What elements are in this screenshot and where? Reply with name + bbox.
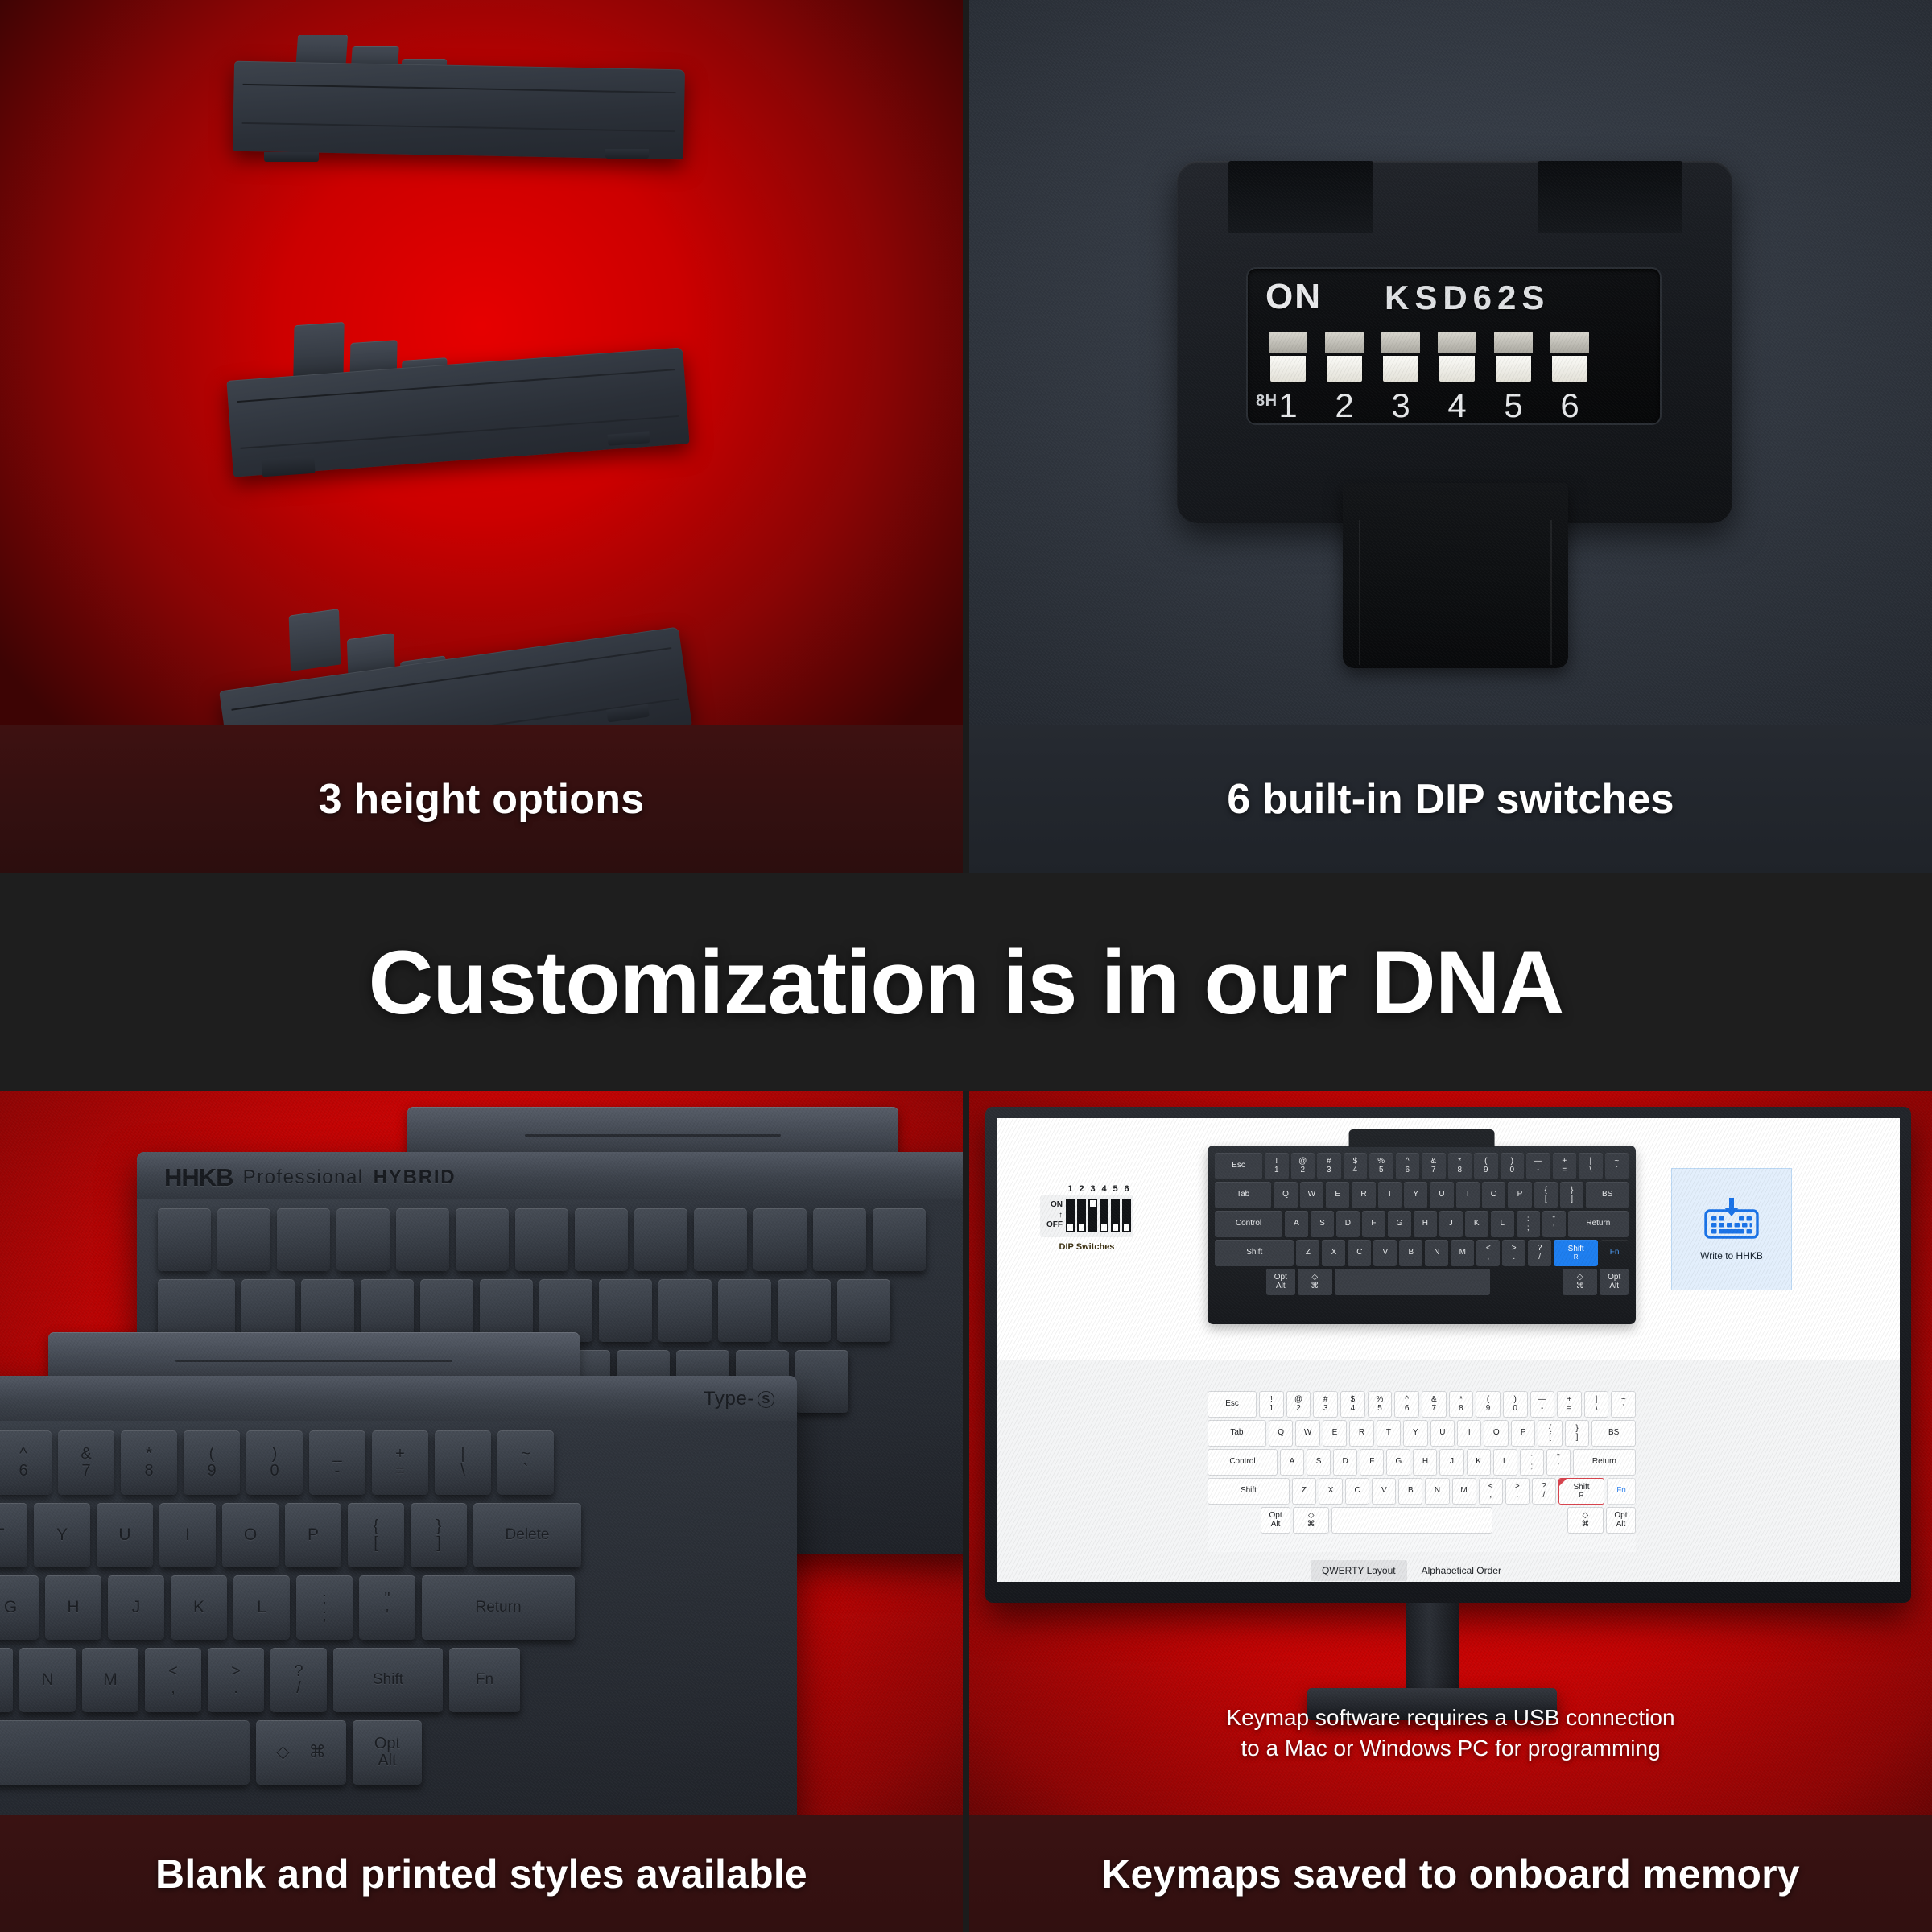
vk-key-4[interactable]: $4 xyxy=(1340,1391,1365,1418)
vk-key-lower: BS xyxy=(1602,1191,1612,1199)
vk-key-y[interactable]: Y xyxy=(1403,1420,1427,1447)
vk-key-lower: 6 xyxy=(1405,1405,1410,1414)
vk-key-c[interactable]: C xyxy=(1345,1478,1369,1505)
vk-key-lower: Z xyxy=(1302,1487,1307,1496)
vk-key-blank[interactable]: ◇⌘ xyxy=(1567,1507,1604,1534)
vk-key-lower: G xyxy=(1396,1220,1402,1228)
key-bracket-left: { [ xyxy=(348,1503,404,1567)
vk-key-upper: Opt xyxy=(1614,1512,1627,1521)
vk-key-j[interactable]: J xyxy=(1439,1449,1463,1476)
vk-key-8[interactable]: *8 xyxy=(1449,1391,1474,1418)
vk-key-lower: C xyxy=(1356,1249,1362,1257)
vk-key-6[interactable]: ^6 xyxy=(1394,1391,1419,1418)
vk-key-r[interactable]: ShiftR xyxy=(1554,1240,1598,1266)
vk-key-d[interactable]: D xyxy=(1333,1449,1357,1476)
key-g: G xyxy=(0,1575,39,1640)
vk-key-upper: + xyxy=(1567,1396,1572,1405)
vk-key-t[interactable]: T xyxy=(1377,1420,1401,1447)
vk-key-o[interactable]: O xyxy=(1482,1182,1505,1208)
key-blank xyxy=(795,1350,848,1413)
vk-key-lower: Control xyxy=(1236,1220,1261,1228)
vk-key-lower: U xyxy=(1439,1429,1445,1438)
vk-key-lower: C xyxy=(1355,1487,1360,1496)
key-p: P xyxy=(285,1503,341,1567)
vk-key-lower: X xyxy=(1328,1487,1334,1496)
caption-band-height-options: 3 height options xyxy=(0,724,963,873)
vk-key-w[interactable]: W xyxy=(1300,1182,1323,1208)
vk-key-lower: O xyxy=(1493,1429,1500,1438)
printed-key-row-asdf: S D F G H J K xyxy=(0,1575,575,1640)
vk-row-qwerty: TabQWERTYUIOP{[}]BS xyxy=(1207,1420,1636,1447)
key-9: ( 9 xyxy=(184,1430,240,1495)
key-blank xyxy=(158,1208,211,1271)
vk-key-lower: - xyxy=(1541,1405,1543,1414)
virtual-keyboard-light[interactable]: Esc!1@2#3$4%5^6&7*8(9)0—-+=|\~`TabQWERTY… xyxy=(1207,1391,1636,1552)
vk-key-blank[interactable]: |\ xyxy=(1579,1153,1603,1179)
vk-key-v[interactable]: V xyxy=(1373,1240,1397,1266)
vk-key-upper: @ xyxy=(1294,1396,1302,1405)
dip-cover-tail xyxy=(1343,483,1568,668)
vk-key-lower: I xyxy=(1468,1429,1471,1438)
key-k: K xyxy=(171,1575,227,1640)
vk-key-upper: — xyxy=(1534,1158,1542,1166)
vk-key-lower: \ xyxy=(1596,1405,1598,1414)
key-blank xyxy=(515,1208,568,1271)
vk-key-9[interactable]: (9 xyxy=(1476,1391,1501,1418)
vk-key-5[interactable]: %5 xyxy=(1368,1391,1393,1418)
vk-key-lower: / xyxy=(1538,1253,1541,1262)
vk-key-upper: { xyxy=(1545,1187,1547,1195)
vk-key-p[interactable]: P xyxy=(1511,1420,1535,1447)
vk-key-n[interactable]: N xyxy=(1425,1240,1448,1266)
vk-key-blank[interactable]: {[ xyxy=(1538,1420,1562,1447)
vk-key-lower: L xyxy=(1500,1220,1505,1228)
vk-key-upper: % xyxy=(1377,1158,1385,1166)
vk-key-4[interactable]: $4 xyxy=(1344,1153,1368,1179)
vk-key-lower: . xyxy=(1513,1253,1515,1262)
printed-key-row-zxcv: X C V B N M < , xyxy=(0,1648,520,1712)
vk-key-p[interactable]: P xyxy=(1508,1182,1531,1208)
vk-key-0[interactable]: )0 xyxy=(1503,1391,1528,1418)
printed-key-row-digits: # 3 $ 4 % 5 ^ 6 & 7 xyxy=(0,1430,554,1495)
vk-key-blank[interactable]: ~` xyxy=(1605,1153,1629,1179)
vk-key-g[interactable]: G xyxy=(1386,1449,1410,1476)
vk-key-1[interactable]: !1 xyxy=(1259,1391,1284,1418)
vk-key-lower: 2 xyxy=(1300,1166,1305,1175)
vk-key-blank[interactable]: ◇⌘ xyxy=(1563,1269,1597,1295)
vk-key-lower: S xyxy=(1316,1458,1322,1467)
vk-row-zxcv: ShiftZXCVBNM<,>.?/ShiftRFn xyxy=(1207,1478,1636,1505)
vk-key-3[interactable]: #3 xyxy=(1317,1153,1341,1179)
vk-key-upper: ( xyxy=(1487,1396,1489,1405)
vk-key-alt[interactable]: OptAlt xyxy=(1266,1269,1295,1295)
vk-key-b[interactable]: B xyxy=(1398,1478,1422,1505)
vk-key-blank[interactable] xyxy=(1335,1269,1490,1295)
vk-key-lower: K xyxy=(1476,1458,1481,1467)
vk-spacer xyxy=(1495,1507,1565,1534)
vk-key-s[interactable]: S xyxy=(1311,1211,1334,1237)
vk-key-i[interactable]: I xyxy=(1457,1420,1481,1447)
vk-key-f[interactable]: F xyxy=(1360,1449,1384,1476)
vk-key-blank[interactable]: ~` xyxy=(1611,1391,1636,1418)
vk-key-lower: X xyxy=(1331,1249,1337,1257)
vk-key-esc[interactable]: Esc xyxy=(1207,1391,1257,1418)
vk-key-fn[interactable]: Fn xyxy=(1607,1478,1636,1505)
vk-key-lower: Tab xyxy=(1236,1191,1249,1199)
vk-key-upper: * xyxy=(1459,1396,1463,1405)
dip-switch-6[interactable] xyxy=(1550,332,1589,382)
dip-number-4: 4 xyxy=(1438,386,1476,425)
vk-key-upper: | xyxy=(1596,1396,1598,1405)
vk-key-lower: Return xyxy=(1592,1458,1616,1467)
vk-key-lower: ` xyxy=(1616,1166,1618,1175)
key-blank xyxy=(753,1208,807,1271)
vk-key-upper: — xyxy=(1538,1396,1546,1405)
vk-key-upper: $ xyxy=(1351,1396,1356,1405)
vk-key-9[interactable]: (9 xyxy=(1474,1153,1498,1179)
vk-key-blank[interactable]: += xyxy=(1553,1153,1577,1179)
vk-key-3[interactable]: #3 xyxy=(1313,1391,1338,1418)
vk-key-g[interactable]: G xyxy=(1388,1211,1411,1237)
type-s-badge: Type- S xyxy=(704,1388,774,1410)
key-comma: < , xyxy=(145,1648,201,1712)
vk-key-lower: \ xyxy=(1589,1166,1591,1175)
vk-key-blank[interactable]: ◇⌘ xyxy=(1293,1507,1329,1534)
vk-row-qwerty: TabQWERTYUIOP{[}]BS xyxy=(1215,1182,1629,1208)
vk-key-lower: / xyxy=(1543,1492,1546,1501)
vk-key-y[interactable]: Y xyxy=(1404,1182,1427,1208)
vk-key-upper: " xyxy=(1552,1216,1555,1224)
vk-key-z[interactable]: Z xyxy=(1292,1478,1316,1505)
vk-key-l[interactable]: L xyxy=(1493,1449,1517,1476)
vk-key-k[interactable]: K xyxy=(1465,1211,1488,1237)
key-m: M xyxy=(82,1648,138,1712)
key-fn: Fn xyxy=(449,1648,520,1712)
dip-switches-widget[interactable]: ON ↑ OFF 1 2 3 4 5 6 xyxy=(1040,1195,1133,1237)
vk-key-lower: 4 xyxy=(1352,1166,1357,1175)
vk-key-f[interactable]: F xyxy=(1362,1211,1385,1237)
vk-key-o[interactable]: O xyxy=(1484,1420,1508,1447)
vk-key-lower: H xyxy=(1422,1220,1428,1228)
vk-key-blank[interactable]: <, xyxy=(1476,1240,1500,1266)
vk-key-tab[interactable]: Tab xyxy=(1215,1182,1271,1208)
key-b: B xyxy=(0,1648,13,1712)
vk-key-s[interactable]: S xyxy=(1307,1449,1331,1476)
vk-key-blank[interactable]: "' xyxy=(1546,1449,1571,1476)
key-period: > . xyxy=(208,1648,264,1712)
vk-key-t[interactable]: T xyxy=(1378,1182,1402,1208)
keyboard-profile-medium xyxy=(229,322,688,499)
vk-key-blank[interactable]: }] xyxy=(1565,1420,1589,1447)
vk-key-shift[interactable]: Shift xyxy=(1215,1240,1294,1266)
vk-key-lower: Esc xyxy=(1225,1400,1239,1409)
vk-key-bs[interactable]: BS xyxy=(1586,1182,1629,1208)
dipw-track-1[interactable] xyxy=(1066,1199,1075,1232)
keyboard-tab-bump xyxy=(1349,1129,1495,1147)
vk-key-lower: Return xyxy=(1586,1220,1610,1228)
key-o: O xyxy=(222,1503,279,1567)
vk-key-upper: } xyxy=(1575,1425,1578,1434)
vk-key-lower: Shift xyxy=(1241,1487,1257,1496)
vk-key-blank[interactable]: += xyxy=(1557,1391,1582,1418)
vk-key-lower: ⌘ xyxy=(1576,1282,1584,1291)
vk-key-m[interactable]: M xyxy=(1451,1240,1474,1266)
vk-key-blank[interactable]: |\ xyxy=(1584,1391,1609,1418)
dipw-track-3[interactable] xyxy=(1088,1199,1097,1232)
vk-key-a[interactable]: A xyxy=(1285,1211,1308,1237)
vk-key-lower: ; xyxy=(1530,1463,1533,1472)
dip-switch-numbers: 1 2 3 4 5 6 xyxy=(1269,386,1589,425)
key-bracket-right: } ] xyxy=(411,1503,467,1567)
vk-key-h[interactable]: H xyxy=(1413,1449,1437,1476)
vk-key-e[interactable]: E xyxy=(1323,1420,1347,1447)
key-blank xyxy=(813,1208,866,1271)
dip-switch-3[interactable] xyxy=(1381,332,1420,382)
vk-spacer xyxy=(1492,1269,1560,1295)
vk-key-r[interactable]: R xyxy=(1352,1182,1375,1208)
vk-key-upper: ~ xyxy=(1614,1158,1619,1166)
hhkb-wordmark: HHKB xyxy=(164,1163,233,1192)
dip-switch-1[interactable] xyxy=(1269,332,1307,382)
vk-key-lower: V xyxy=(1381,1487,1387,1496)
vk-key-lower: D xyxy=(1345,1220,1351,1228)
vk-key-upper: : xyxy=(1530,1454,1533,1463)
divider-vertical-bottom xyxy=(963,1091,969,1932)
vk-key-lower: R xyxy=(1360,1191,1366,1199)
vk-key-r[interactable]: R xyxy=(1349,1420,1373,1447)
dipw-track-6[interactable] xyxy=(1122,1199,1131,1232)
virtual-keyboard-dark-rows: Esc!1@2#3$4%5^6&7*8(9)0—-+=|\~`TabQWERTY… xyxy=(1215,1153,1629,1295)
vk-key-b[interactable]: B xyxy=(1399,1240,1422,1266)
vk-key-j[interactable]: J xyxy=(1439,1211,1463,1237)
divider-vertical-top xyxy=(963,0,969,873)
vk-key-lower: A xyxy=(1294,1220,1299,1228)
vk-key-blank[interactable]: ◇⌘ xyxy=(1298,1269,1332,1295)
vk-key-upper: ( xyxy=(1484,1158,1487,1166)
vk-key-shift[interactable]: Shift xyxy=(1207,1478,1290,1505)
vk-key-blank[interactable]: ?/ xyxy=(1528,1240,1551,1266)
vk-key-0[interactable]: )0 xyxy=(1501,1153,1525,1179)
vk-key-blank[interactable]: <, xyxy=(1479,1478,1503,1505)
vk-key-lower: O xyxy=(1491,1191,1497,1199)
vk-key-lower: B xyxy=(1408,1487,1414,1496)
vk-key-blank[interactable]: "' xyxy=(1542,1211,1566,1237)
vk-key-lower: ⌘ xyxy=(1581,1521,1589,1529)
vk-key-lower: Alt xyxy=(1271,1521,1281,1529)
vk-key-lower: W xyxy=(1308,1191,1315,1199)
vk-key-esc[interactable]: Esc xyxy=(1215,1153,1262,1179)
tab-alphabetical-order[interactable]: Alphabetical Order xyxy=(1410,1560,1513,1581)
vk-key-lower: H xyxy=(1422,1458,1428,1467)
vk-key-upper: " xyxy=(1557,1454,1560,1463)
key-y: Y xyxy=(34,1503,90,1567)
key-equal: + = xyxy=(372,1430,428,1495)
vk-key-blank[interactable]: —- xyxy=(1530,1391,1555,1418)
vk-key-upper: Opt xyxy=(1269,1512,1282,1521)
vk-key-alt[interactable]: OptAlt xyxy=(1261,1507,1290,1534)
dip-widget-on-off: ON ↑ OFF xyxy=(1042,1200,1063,1231)
vk-key-u[interactable]: U xyxy=(1430,1182,1453,1208)
dipw-track-4[interactable] xyxy=(1100,1199,1108,1232)
vk-key-upper: < xyxy=(1486,1245,1491,1253)
vk-key-blank[interactable]: ?/ xyxy=(1532,1478,1556,1505)
vk-key-blank[interactable]: —- xyxy=(1526,1153,1550,1179)
vk-key-blank[interactable]: >. xyxy=(1502,1240,1525,1266)
page-headline: Customization is in our DNA xyxy=(0,873,1932,1091)
vk-key-7[interactable]: &7 xyxy=(1422,1391,1447,1418)
dip-switch-2[interactable] xyxy=(1325,332,1364,382)
vk-key-lower: 9 xyxy=(1484,1166,1488,1175)
vk-key-upper: | xyxy=(1589,1158,1591,1166)
keyboard-download-icon xyxy=(1703,1198,1760,1244)
caption-band-dip-switches: 6 built-in DIP switches xyxy=(969,724,1932,873)
vk-key-lower: E xyxy=(1332,1429,1338,1438)
vk-key-lower: Tab xyxy=(1230,1429,1243,1438)
vk-key-lower: 3 xyxy=(1323,1405,1328,1414)
vk-key-return[interactable]: Return xyxy=(1573,1449,1636,1476)
vk-key-lower: I xyxy=(1467,1191,1469,1199)
key-8: * 8 xyxy=(121,1430,177,1495)
vk-key-l[interactable]: L xyxy=(1491,1211,1514,1237)
dip-number-3: 3 xyxy=(1381,386,1420,425)
vk-key-upper: $ xyxy=(1352,1158,1357,1166)
key-blank xyxy=(873,1208,926,1271)
layout-tab-bar: QWERTY Layout Alphabetical Order xyxy=(1311,1560,1513,1581)
vk-key-2[interactable]: @2 xyxy=(1291,1153,1315,1179)
vk-key-tab[interactable]: Tab xyxy=(1207,1420,1266,1447)
dip-widget-numbers: 1 2 3 4 5 6 xyxy=(1066,1184,1131,1194)
vk-key-2[interactable]: @2 xyxy=(1286,1391,1311,1418)
usb-note-line-2: to a Mac or Windows PC for programming xyxy=(969,1733,1932,1764)
key-opt-alt-right: Opt Alt xyxy=(353,1720,422,1785)
vk-key-upper: : xyxy=(1527,1216,1529,1224)
vk-row-num: Esc!1@2#3$4%5^6&7*8(9)0—-+=|\~` xyxy=(1207,1391,1636,1418)
vk-key-6[interactable]: ^6 xyxy=(1396,1153,1420,1179)
monitor-neck xyxy=(1406,1603,1459,1693)
vk-key-blank[interactable]: {[ xyxy=(1534,1182,1558,1208)
vk-key-7[interactable]: &7 xyxy=(1422,1153,1446,1179)
dip-switch-4[interactable] xyxy=(1438,332,1476,382)
vk-key-k[interactable]: K xyxy=(1467,1449,1491,1476)
vk-key-return[interactable]: Return xyxy=(1568,1211,1629,1237)
vk-key-control[interactable]: Control xyxy=(1215,1211,1282,1237)
vk-key-u[interactable]: U xyxy=(1430,1420,1455,1447)
vk-key-1[interactable]: !1 xyxy=(1265,1153,1289,1179)
keyboard-blank-logo: HHKB Professional HYBRID xyxy=(164,1163,456,1192)
key-shift-right: Shift xyxy=(333,1648,443,1712)
virtual-keyboard-dark[interactable]: Esc!1@2#3$4%5^6&7*8(9)0—-+=|\~`TabQWERTY… xyxy=(1207,1146,1636,1324)
vk-key-d[interactable]: D xyxy=(1336,1211,1360,1237)
dip-number-6: 6 xyxy=(1550,386,1589,425)
vk-key-m[interactable]: M xyxy=(1452,1478,1476,1505)
dip-switch-row[interactable] xyxy=(1269,332,1589,382)
vk-key-lower: [ xyxy=(1549,1434,1551,1443)
vk-key-blank[interactable]: }] xyxy=(1560,1182,1583,1208)
key-delete: Delete xyxy=(473,1503,581,1567)
vk-key-control[interactable]: Control xyxy=(1207,1449,1278,1476)
vk-key-lower: 3 xyxy=(1327,1166,1331,1175)
blank-key-row-1 xyxy=(158,1208,926,1271)
vk-key-blank[interactable]: :; xyxy=(1517,1211,1540,1237)
vk-key-blank[interactable]: :; xyxy=(1520,1449,1544,1476)
vk-key-q[interactable]: Q xyxy=(1269,1420,1293,1447)
vk-key-upper: ◇ xyxy=(1582,1512,1588,1521)
dip-on-label: ON xyxy=(1265,277,1322,317)
vk-key-blank[interactable]: >. xyxy=(1505,1478,1529,1505)
vk-key-e[interactable]: E xyxy=(1326,1182,1349,1208)
vk-key-bs[interactable]: BS xyxy=(1591,1420,1636,1447)
write-to-hhkb-button[interactable]: Write to HHKB xyxy=(1671,1168,1792,1290)
vk-key-upper: ) xyxy=(1514,1396,1517,1405)
vk-key-lower: ] xyxy=(1571,1195,1573,1204)
vk-key-lower: Alt xyxy=(1276,1282,1286,1291)
panel-height-options xyxy=(0,0,963,724)
vk-key-z[interactable]: Z xyxy=(1296,1240,1319,1266)
vk-spacer xyxy=(1207,1507,1258,1534)
key-t: T xyxy=(0,1503,27,1567)
type-s-letter: S xyxy=(758,1391,774,1408)
vk-key-q[interactable]: Q xyxy=(1274,1182,1297,1208)
vk-key-blank[interactable] xyxy=(1331,1507,1492,1534)
vk-key-x[interactable]: X xyxy=(1322,1240,1345,1266)
vk-key-alt[interactable]: OptAlt xyxy=(1600,1269,1629,1295)
vk-key-upper: > xyxy=(1515,1483,1520,1492)
caption-blank-printed: Blank and printed styles available xyxy=(0,1815,963,1932)
vk-key-upper: Shift xyxy=(1568,1245,1584,1254)
vk-key-lower: ⌘ xyxy=(1311,1282,1319,1291)
vk-key-lower: A xyxy=(1290,1458,1295,1467)
vk-key-lower: 7 xyxy=(1431,1405,1436,1414)
tab-qwerty-layout[interactable]: QWERTY Layout xyxy=(1311,1560,1407,1581)
vk-key-lower: R xyxy=(1359,1429,1364,1438)
vk-key-lower: W xyxy=(1304,1429,1311,1438)
dipw-track-5[interactable] xyxy=(1111,1199,1120,1232)
vk-key-i[interactable]: I xyxy=(1456,1182,1480,1208)
vk-key-n[interactable]: N xyxy=(1425,1478,1449,1505)
vk-key-v[interactable]: V xyxy=(1372,1478,1396,1505)
vk-key-8[interactable]: *8 xyxy=(1448,1153,1472,1179)
vk-key-h[interactable]: H xyxy=(1414,1211,1437,1237)
vk-key-r[interactable]: ShiftR xyxy=(1558,1478,1604,1505)
dip-number-2: 2 xyxy=(1325,386,1364,425)
vk-key-a[interactable]: A xyxy=(1280,1449,1304,1476)
vk-key-lower: ' xyxy=(1558,1463,1559,1472)
vk-key-lower: Q xyxy=(1278,1429,1284,1438)
vk-key-upper: ^ xyxy=(1405,1396,1409,1405)
vk-key-alt[interactable]: OptAlt xyxy=(1606,1507,1636,1534)
key-blank xyxy=(217,1208,270,1271)
dip-switch-5[interactable] xyxy=(1494,332,1533,382)
vk-key-x[interactable]: X xyxy=(1319,1478,1343,1505)
vk-key-lower: Alt xyxy=(1609,1282,1619,1291)
vk-row-space: OptAlt◇⌘◇⌘OptAlt xyxy=(1215,1269,1629,1295)
vk-key-w[interactable]: W xyxy=(1295,1420,1319,1447)
vk-key-fn[interactable]: Fn xyxy=(1600,1240,1629,1266)
vk-key-lower: ; xyxy=(1527,1224,1529,1233)
vk-key-lower: ' xyxy=(1553,1224,1554,1233)
vk-key-upper: & xyxy=(1431,1396,1437,1405)
panel-keyboard-styles: HHKB Professional HYBRID xyxy=(0,1091,963,1815)
vk-key-c[interactable]: C xyxy=(1348,1240,1371,1266)
dipw-track-2[interactable] xyxy=(1077,1199,1086,1232)
key-u: U xyxy=(97,1503,153,1567)
vk-key-lower: F xyxy=(1371,1220,1376,1228)
vk-row-num: Esc!1@2#3$4%5^6&7*8(9)0—-+=|\~` xyxy=(1215,1153,1629,1179)
vk-key-lower: J xyxy=(1450,1458,1454,1467)
vk-key-lower: 1 xyxy=(1274,1166,1279,1175)
vk-key-5[interactable]: %5 xyxy=(1369,1153,1393,1179)
caption-band-styles: Blank and printed styles available xyxy=(0,1815,963,1932)
